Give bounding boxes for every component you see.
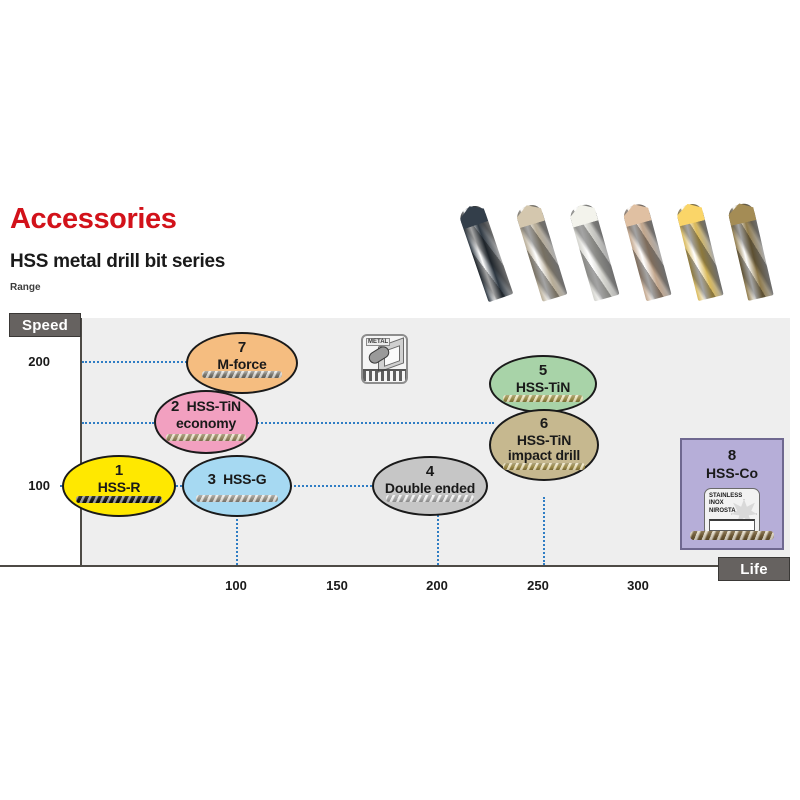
bubble-6-number: 6 <box>540 416 548 433</box>
drill-bit-photo-strip <box>480 196 792 298</box>
guide-line-speed-155-right <box>254 422 494 424</box>
page-title: HSS metal drill bit series <box>10 251 470 273</box>
x-tick-100: 100 <box>214 578 258 593</box>
bubble-2-label: economy <box>176 416 236 432</box>
bubble-6-label-line1: HSS-TiN <box>517 433 571 449</box>
life-axis-badge: Life <box>718 557 790 581</box>
bubble-1-label: HSS-R <box>98 480 141 496</box>
x-tick-300: 300 <box>616 578 660 593</box>
range-label: Range <box>10 282 470 293</box>
stainless-inox-nirosta-icon: STAINLESS INOX NIROSTA <box>704 488 760 536</box>
bubble-6-hss-tin-impact-drill[interactable]: 6 HSS-TiN impact drill <box>489 409 599 481</box>
x-tick-250: 250 <box>516 578 560 593</box>
guide-line-life-250 <box>543 497 545 565</box>
inox-badge-text: STAINLESS INOX NIROSTA <box>709 493 742 515</box>
guide-line-life-200 <box>437 510 439 565</box>
steel-plate-glyph <box>709 519 755 531</box>
bubble-3-title-line: 3 HSS-G <box>208 472 267 489</box>
bubble-2-title-line: 2 HSS-TiN <box>171 399 241 416</box>
bubble-5-hss-tin[interactable]: 5 HSS-TiN <box>489 355 597 413</box>
guide-line-speed-155 <box>82 422 154 424</box>
y-tick-200: 200 <box>6 354 50 369</box>
bubble-6-bit-image <box>503 463 585 470</box>
bubble-4-bit-image <box>386 495 474 502</box>
bit-2-rolled <box>515 202 568 301</box>
bubble-6-label-line2: impact drill <box>508 448 580 464</box>
bubble-5-bit-image <box>503 395 583 402</box>
bubble-2-hss-tin-economy[interactable]: 2 HSS-TiN economy <box>154 390 258 454</box>
bubble-1-number: 1 <box>115 463 123 480</box>
bubble-7-label: M-force <box>217 357 266 373</box>
guide-line-speed-100-right <box>286 485 372 487</box>
bubble-8-hss-co[interactable]: 8 HSS-Co STAINLESS INOX NIROSTA <box>680 438 784 550</box>
x-tick-200: 200 <box>415 578 459 593</box>
bit-6-dark-gold <box>727 202 774 301</box>
bubble-3-number: 3 <box>208 471 216 488</box>
bubble-7-m-force[interactable]: 7 M-force <box>186 332 298 394</box>
bubble-8-bit-image <box>690 531 774 540</box>
bit-4-bronze <box>622 202 672 301</box>
bit-3-ground-bright <box>568 202 619 301</box>
guide-line-speed-200 <box>82 361 190 363</box>
x-axis-line <box>0 565 790 567</box>
bubble-5-number: 5 <box>539 363 547 380</box>
bubble-1-hss-r[interactable]: 1 HSS-R <box>62 455 176 517</box>
bubble-3-hss-g[interactable]: 3 HSS-G <box>182 455 292 517</box>
bubble-4-label: Double ended <box>385 481 475 497</box>
bubble-2-bit-image <box>166 434 246 441</box>
bubble-3-bit-image <box>196 495 278 502</box>
inox-line-3: NIROSTA <box>709 508 736 514</box>
metal-material-icon: METAL <box>361 334 408 384</box>
inox-line-2: INOX <box>709 500 724 506</box>
bubble-1-bit-image <box>76 496 162 503</box>
y-tick-100: 100 <box>6 478 50 493</box>
metal-chips-glyph <box>363 369 406 381</box>
bubble-2-number: 2 <box>171 398 179 415</box>
guide-line-life-100 <box>236 510 238 565</box>
bubble-7-bit-image <box>202 371 282 378</box>
x-tick-150: 150 <box>315 578 359 593</box>
speed-axis-badge: Speed <box>9 313 81 337</box>
bubble-7-number: 7 <box>238 340 246 357</box>
bubble-8-label: HSS-Co <box>706 465 758 481</box>
bubble-8-number: 8 <box>728 447 736 464</box>
bit-5-titanium-gold <box>675 202 723 301</box>
inox-line-1: STAINLESS <box>709 493 742 499</box>
bubble-5-label: HSS-TiN <box>516 380 570 396</box>
bubble-4-number: 4 <box>426 464 434 481</box>
page-header: Accessories HSS metal drill bit series R… <box>10 205 470 293</box>
y-axis-line <box>80 318 82 567</box>
brand-title: Accessories <box>10 205 470 234</box>
metal-icon-label: METAL <box>366 338 390 346</box>
bubble-4-double-ended[interactable]: 4 Double ended <box>372 456 488 516</box>
